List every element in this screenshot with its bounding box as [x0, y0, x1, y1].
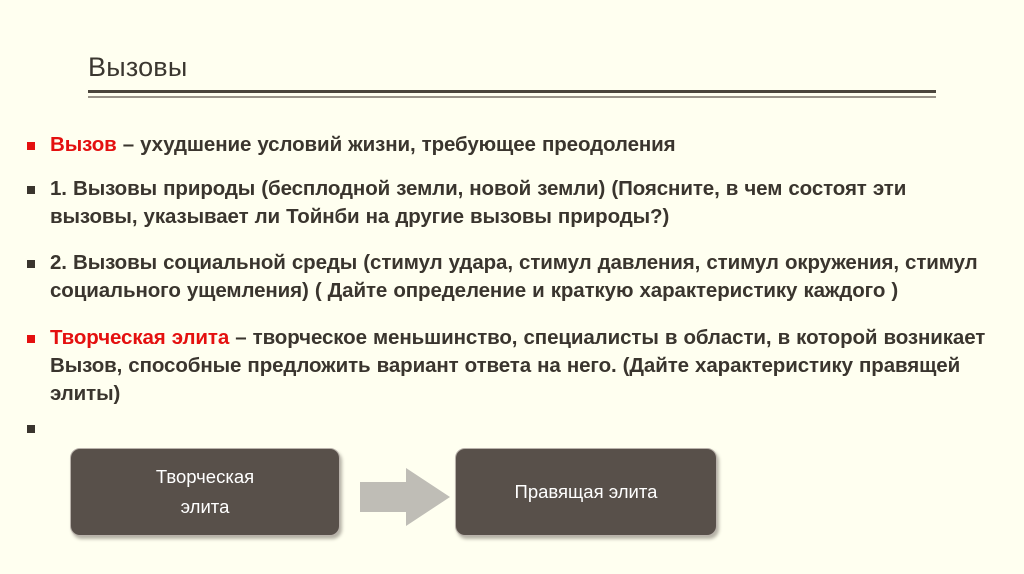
title-rule-thin: [88, 96, 936, 98]
diagram-box-creative-elite-line2: элита: [181, 492, 230, 522]
slide: Вызовы Вызов – ухудшение условий жизни, …: [0, 0, 1024, 574]
bullet-list: Вызов – ухудшение условий жизни, требующ…: [18, 131, 993, 442]
diagram-box-creative-elite-line1: Творческая: [156, 462, 254, 492]
diagram-box-ruling-elite-line1: Правящая элита: [515, 477, 658, 507]
red-square-bullet-icon: [27, 335, 35, 343]
list-item: 1. Вызовы природы (бесплодной земли, нов…: [18, 175, 993, 231]
list-item: 2. Вызовы социальной среды (стимул удара…: [18, 249, 993, 305]
dark-square-bullet-icon: [27, 186, 35, 194]
list-item: Вызов – ухудшение условий жизни, требующ…: [18, 131, 993, 159]
list-item: Творческая элита – творческое меньшинств…: [18, 324, 993, 408]
dark-square-bullet-icon: [27, 425, 35, 433]
dark-square-bullet-icon: [27, 260, 35, 268]
bullet-text: 1. Вызовы природы (бесплодной земли, нов…: [50, 177, 906, 228]
diagram-box-ruling-elite[interactable]: Правящая элита: [455, 448, 717, 536]
title-block: Вызовы: [88, 50, 936, 98]
bullet-keyword: Творческая элита: [50, 326, 229, 349]
page-title: Вызовы: [88, 50, 936, 84]
title-rule-thick: [88, 90, 936, 93]
list-item: [18, 414, 993, 442]
right-arrow-icon: [360, 466, 452, 528]
bullet-keyword: Вызов: [50, 133, 117, 156]
bullet-text: – ухудшение условий жизни, требующее пре…: [117, 133, 676, 156]
diagram-box-creative-elite[interactable]: Творческая элита: [70, 448, 340, 536]
bullet-text: 2. Вызовы социальной среды (стимул удара…: [50, 251, 978, 302]
red-square-bullet-icon: [27, 142, 35, 150]
